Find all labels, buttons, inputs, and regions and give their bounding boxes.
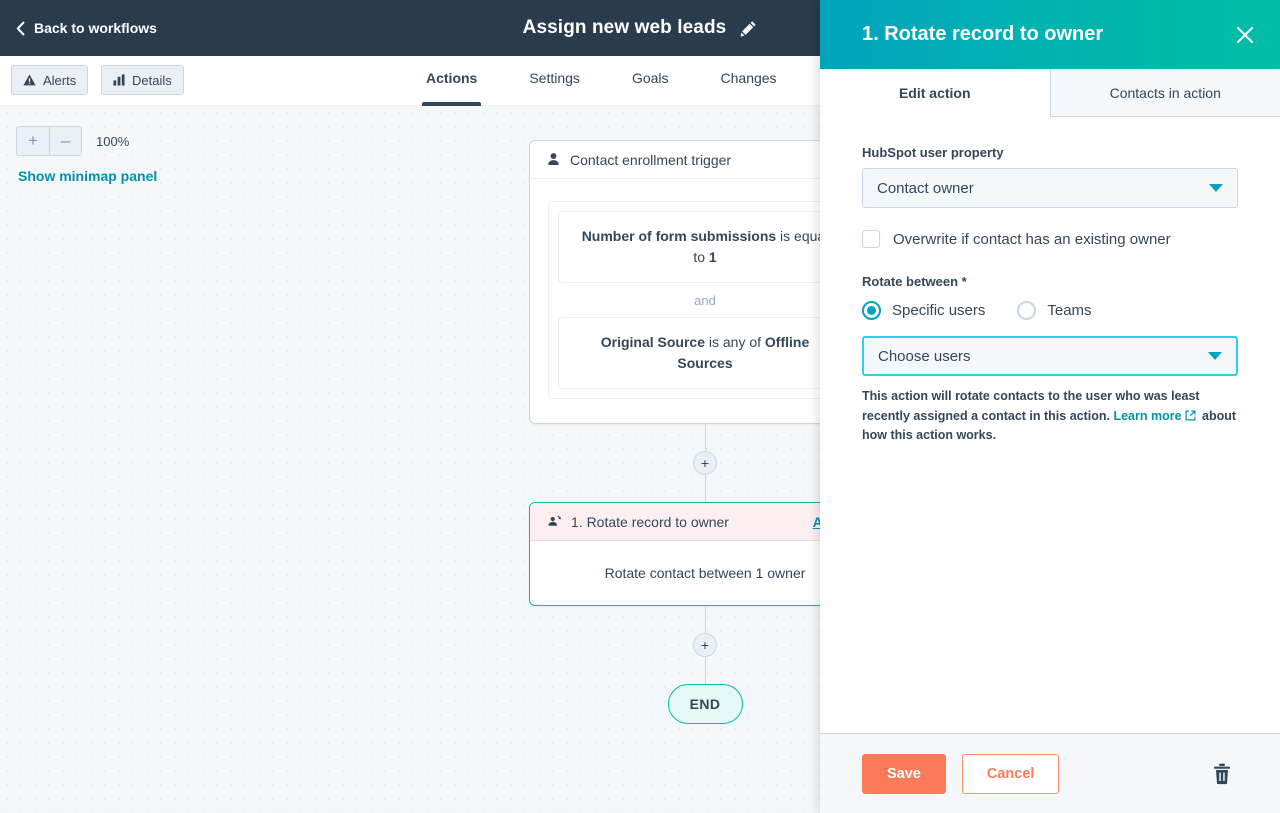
end-node: END [668,684,743,724]
close-icon[interactable] [1226,16,1264,54]
add-step-button[interactable]: + [693,451,717,475]
criterion-property: Number of form submissions [582,228,776,244]
zoom-level-label: 100% [96,134,129,149]
app-root: + – 100% Show minimap panel Contact enro… [0,0,1280,813]
chevron-left-icon [16,21,25,36]
contact-person-icon [546,152,561,167]
tab-goals[interactable]: Goals [606,56,695,106]
alerts-label: Alerts [43,73,76,88]
rotate-between-label: Rotate between * [862,274,1238,289]
panel-title: 1. Rotate record to owner [862,23,1103,46]
panel-header: 1. Rotate record to owner [820,0,1280,69]
pencil-icon[interactable] [740,20,757,37]
overwrite-owner-checkbox[interactable] [862,230,880,248]
action-card-title: 1. Rotate record to owner [571,514,729,530]
panel-body: HubSpot user property Contact owner Over… [820,117,1280,733]
choose-users-placeholder: Choose users [878,348,1208,365]
overwrite-owner-label: Overwrite if contact has an existing own… [893,231,1171,248]
trigger-card-title: Contact enrollment trigger [570,152,731,168]
criterion-operator: is any of [705,334,765,350]
details-button[interactable]: Details [101,65,184,95]
chevron-down-icon [1208,352,1222,360]
rotate-between-radio-group: Specific users Teams [862,301,1238,320]
zoom-in-button[interactable]: + [17,127,49,155]
add-step-button[interactable]: + [693,633,717,657]
criterion-row[interactable]: Original Source is any of Offline Source… [558,317,852,389]
bar-chart-icon [113,74,125,86]
cancel-button[interactable]: Cancel [962,754,1060,794]
criterion-value: 1 [709,249,717,265]
tab-actions[interactable]: Actions [400,56,503,106]
radio-teams-control[interactable] [1017,301,1036,320]
radio-specific-users-control[interactable] [862,301,881,320]
rotate-help-text: This action will rotate contacts to the … [862,387,1238,446]
zoom-button-group: + – [16,126,82,156]
rotate-owner-icon [546,514,562,529]
zoom-controls: + – 100% [16,126,129,156]
chevron-down-icon [1209,184,1223,192]
radio-specific-users-label: Specific users [892,302,985,319]
tab-settings[interactable]: Settings [503,56,606,106]
workflow-tabs: Actions Settings Goals Changes [400,56,803,106]
criterion-property: Original Source [601,334,705,350]
back-to-workflows-link[interactable]: Back to workflows [16,0,157,56]
warning-triangle-icon [23,74,36,86]
save-button[interactable]: Save [862,754,946,794]
show-minimap-panel-link[interactable]: Show minimap panel [18,168,157,184]
criteria-group: Number of form submissions is equal to 1… [548,201,862,399]
panel-tabs: Edit action Contacts in action [820,69,1280,117]
page-title: Assign new web leads [523,17,727,39]
alerts-button[interactable]: Alerts [11,65,88,95]
tab-edit-action[interactable]: Edit action [820,69,1050,117]
edit-action-panel: 1. Rotate record to owner Edit action Co… [820,0,1280,813]
hubspot-user-property-label: HubSpot user property [862,145,1238,160]
overwrite-owner-row[interactable]: Overwrite if contact has an existing own… [862,230,1238,248]
tab-changes[interactable]: Changes [695,56,803,106]
zoom-out-button[interactable]: – [49,127,81,155]
hubspot-user-property-value: Contact owner [877,180,1209,197]
back-to-workflows-label: Back to workflows [34,20,157,36]
tab-contacts-in-action[interactable]: Contacts in action [1050,69,1280,117]
hubspot-user-property-select[interactable]: Contact owner [862,168,1238,208]
panel-footer: Save Cancel [820,733,1280,813]
external-link-icon [1185,410,1196,421]
radio-teams[interactable]: Teams [1017,301,1091,320]
criterion-row[interactable]: Number of form submissions is equal to 1 [558,211,852,283]
learn-more-link[interactable]: Learn more [1113,409,1181,423]
radio-teams-label: Teams [1047,302,1091,319]
details-label: Details [132,73,172,88]
radio-specific-users[interactable]: Specific users [862,301,985,320]
criteria-join-label: and [558,283,852,317]
trash-icon[interactable] [1206,758,1238,790]
choose-users-select[interactable]: Choose users [862,336,1238,376]
